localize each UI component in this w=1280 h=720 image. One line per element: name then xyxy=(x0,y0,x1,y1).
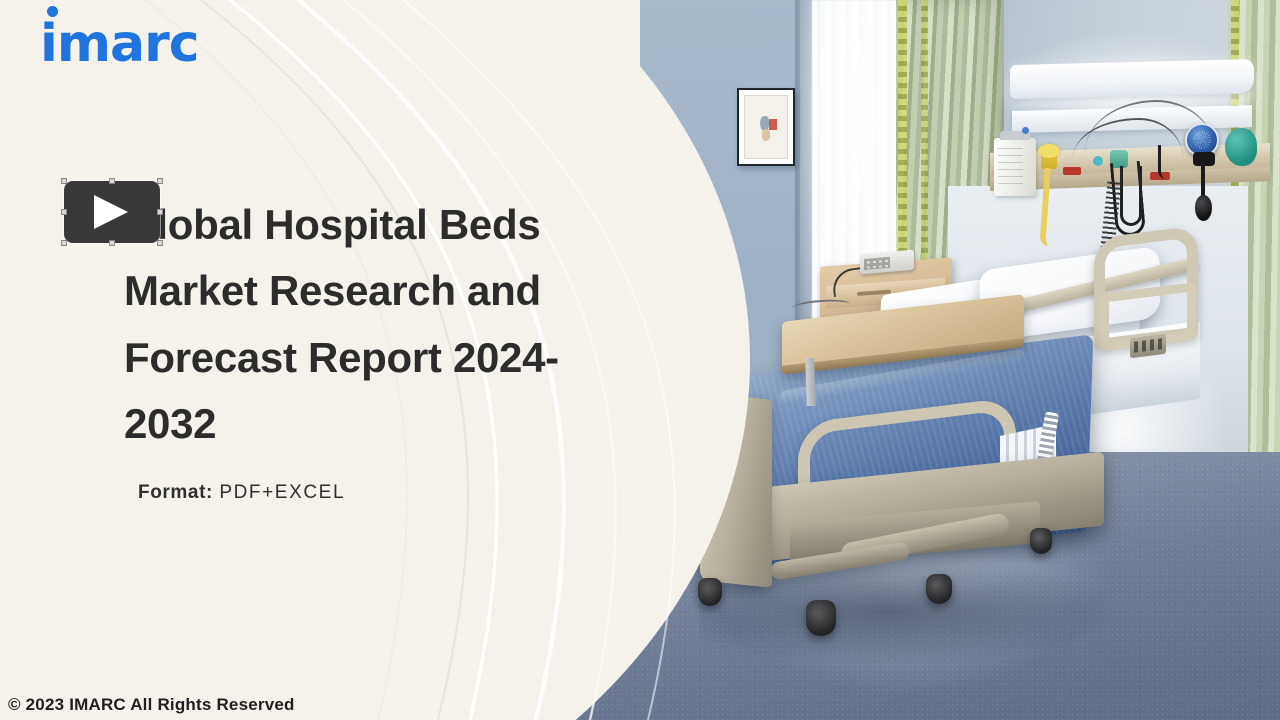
equipment-hook xyxy=(1158,145,1167,179)
artwork-shape-red xyxy=(769,119,777,130)
resuscitation-bag xyxy=(1225,128,1257,166)
canister-graduations xyxy=(998,148,1023,189)
picture-mat xyxy=(744,95,788,159)
canister-knob xyxy=(1022,127,1029,134)
bed-castor-rear xyxy=(1030,528,1052,554)
copyright-notice: © 2023 IMARC All Rights Reserved xyxy=(8,695,295,715)
power-outlet-red-1 xyxy=(1063,167,1081,175)
gas-outlet-yellow-head xyxy=(1038,144,1060,158)
gas-outlet-teal xyxy=(1093,156,1103,166)
cuff-inflation-bulb xyxy=(1195,195,1212,221)
imarc-logo-text: imarc xyxy=(40,14,199,74)
cuff-bulb-stem xyxy=(1201,160,1205,200)
resize-handle-left-middle[interactable] xyxy=(61,209,67,215)
resize-handle-top-left[interactable] xyxy=(61,178,67,184)
resize-handle-bottom-left[interactable] xyxy=(61,240,67,246)
format-value: PDF+EXCEL xyxy=(219,482,345,503)
resize-handle-top-middle[interactable] xyxy=(109,178,115,184)
bed-castor-front xyxy=(806,600,836,636)
play-button[interactable] xyxy=(64,181,160,243)
overbed-table-leg xyxy=(805,358,816,406)
resize-handle-top-right[interactable] xyxy=(157,178,163,184)
bed-castor-mid xyxy=(926,574,952,604)
imarc-logo[interactable]: imarc xyxy=(40,18,199,70)
gauge-dial-face xyxy=(1193,131,1211,149)
resize-handle-bottom-right[interactable] xyxy=(157,240,163,246)
play-icon xyxy=(94,195,128,229)
suction-canister xyxy=(994,138,1036,196)
picture-artwork xyxy=(760,113,777,140)
resize-handle-right-middle[interactable] xyxy=(157,209,163,215)
telephone-keypad xyxy=(864,257,890,270)
imarc-logo-dot xyxy=(47,6,58,17)
framed-picture xyxy=(737,88,795,166)
presentation-slide: imarc Global Hospital Beds Market Resear… xyxy=(0,0,1280,720)
format-label: Format: xyxy=(138,482,213,503)
stethoscope-tubing-inner xyxy=(1120,166,1142,226)
artwork-shape-tan xyxy=(762,129,770,140)
resize-handle-bottom-middle[interactable] xyxy=(109,240,115,246)
overbed-light-fixture xyxy=(1010,59,1254,99)
bed-castor-left xyxy=(698,578,722,606)
page-title: Global Hospital Beds Market Research and… xyxy=(124,192,644,457)
bed-control-display xyxy=(1134,338,1162,352)
format-line: Format: PDF+EXCEL xyxy=(138,482,345,504)
